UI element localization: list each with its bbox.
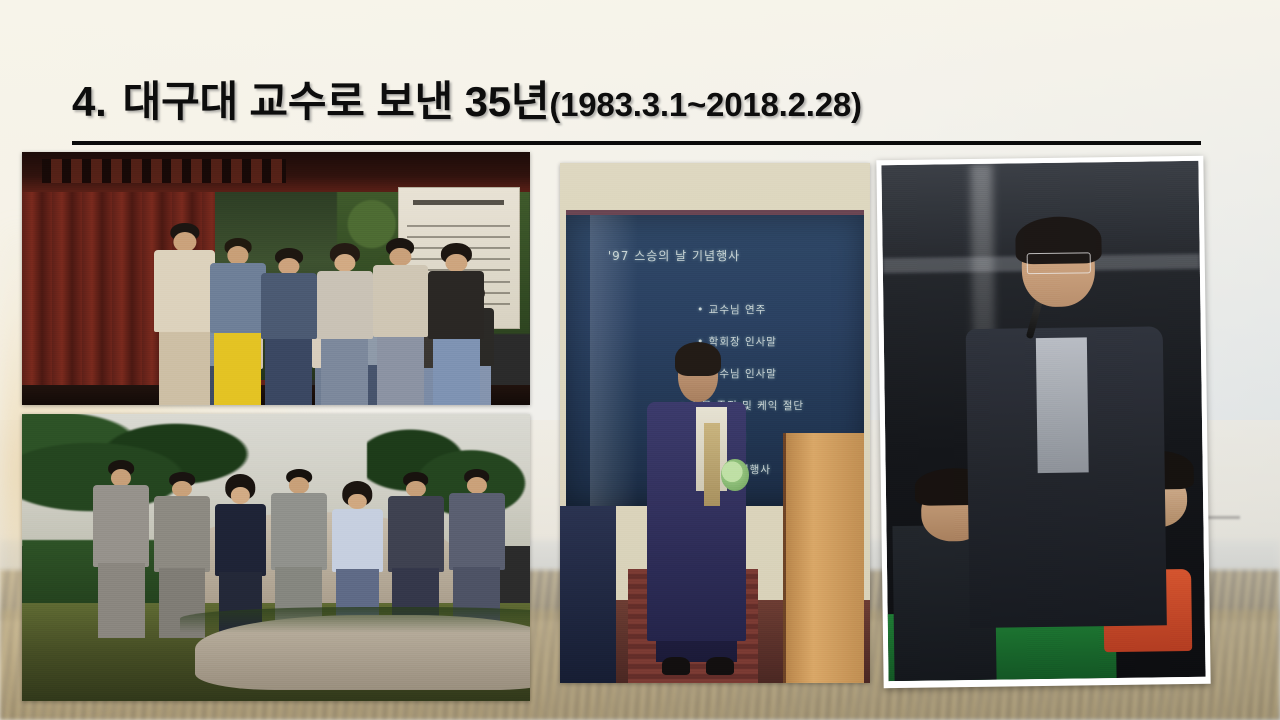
photo-mic-scene (881, 161, 1205, 681)
student-group (22, 152, 530, 405)
slide-canvas: 4.대구대 교수로 보낸 35년(1983.3.1~2018.2.28) (0, 0, 1280, 720)
page-title: 4.대구대 교수로 보낸 35년(1983.3.1~2018.2.28) (72, 78, 1202, 126)
shoe-left (662, 657, 690, 675)
photo-podium-scene: '97 스승의 날 기념행사 • 교수님 연주 • 학회장 인사말 • 교수님 … (560, 163, 870, 683)
necktie (704, 423, 720, 506)
group-photo-temple-gate (22, 152, 530, 405)
page-title-number: 4. (72, 78, 107, 125)
person (93, 460, 149, 638)
banner-item: • 교수님 연주 (697, 302, 766, 317)
slide-title-block: 4.대구대 교수로 보낸 35년(1983.3.1~2018.2.28) (72, 78, 1202, 126)
wooden-lectern (783, 433, 864, 683)
corsage-flower (721, 459, 749, 490)
speaker-shirt (1036, 338, 1089, 473)
person (261, 248, 317, 405)
photo-gate-scene (22, 152, 530, 405)
banner-title-text: '97 스승의 날 기념행사 (608, 247, 740, 264)
person (428, 243, 484, 405)
page-title-date-range: (1983.3.1~2018.2.28) (549, 86, 862, 123)
hair (675, 342, 722, 376)
shoe-right (706, 657, 734, 675)
group-photo-boulder (22, 414, 530, 701)
large-boulder-foreground (195, 615, 530, 690)
person (154, 223, 215, 405)
eyeglasses-icon (1027, 253, 1091, 275)
person (373, 238, 429, 405)
photo-man-with-microphone (876, 156, 1210, 689)
dark-left-wall (560, 506, 616, 683)
photo-rock-scene (22, 414, 530, 701)
person (210, 238, 266, 405)
page-title-korean: 대구대 교수로 보낸 35년 (123, 78, 550, 125)
portrait-photo-banner: '97 스승의 날 기념행사 • 교수님 연주 • 학회장 인사말 • 교수님 … (560, 163, 870, 683)
title-underline-divider (72, 141, 1201, 145)
person (317, 243, 373, 405)
